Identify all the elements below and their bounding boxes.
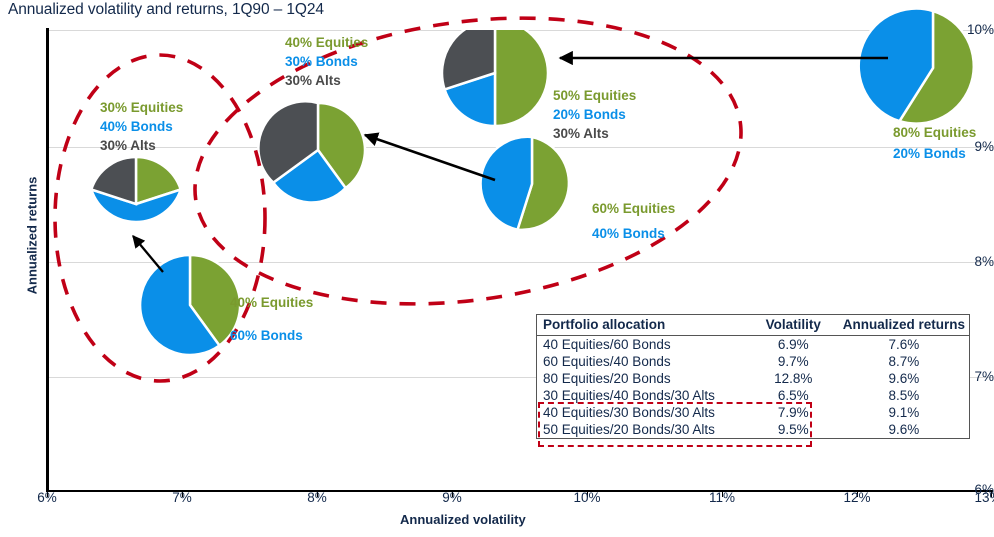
label-50-20-30-alts: 30% Alts (553, 124, 609, 143)
x-tick-8: 8% (287, 490, 347, 505)
cell-return: 9.1% (837, 404, 969, 421)
x-tick-6: 6% (17, 490, 77, 505)
cell-allocation: 40 Equities/60 Bonds (537, 336, 748, 354)
y-tick-10: 10% (948, 22, 994, 37)
pie-40-equities-30-bonds-30-alts (258, 101, 365, 202)
label-40-30-30-equities: 40% Equities (285, 33, 368, 52)
arrow-40-60-to-30-40-30 (133, 236, 163, 272)
label-40-30-30-bonds: 30% Bonds (285, 52, 358, 71)
table-row: 40 Equities/30 Bonds/30 Alts 7.9% 9.1% (537, 404, 969, 421)
x-tick-7: 7% (152, 490, 212, 505)
label-60-40-bonds: 40% Bonds (592, 224, 665, 243)
label-30-40-30-bonds: 40% Bonds (100, 117, 173, 136)
cell-allocation: 60 Equities/40 Bonds (537, 353, 748, 370)
highlight-ellipse-right (176, 0, 759, 337)
y-tick-8: 8% (948, 254, 994, 269)
table-row: 60 Equities/40 Bonds 9.7% 8.7% (537, 353, 969, 370)
label-60-40-equities: 60% Equities (592, 199, 675, 218)
x-tick-10: 10% (557, 490, 617, 505)
table-row: 80 Equities/20 Bonds 12.8% 9.6% (537, 370, 969, 387)
arrow-60-40-to-40-30-30 (365, 135, 495, 180)
cell-volatility: 9.5% (748, 421, 837, 438)
gridline-10pct (48, 30, 993, 31)
pie-50-equities-20-bonds-30-alts (442, 20, 548, 126)
x-tick-12: 12% (827, 490, 887, 505)
y-axis-title: Annualized returns (25, 156, 40, 316)
col-annualized-returns: Annualized returns (837, 315, 969, 336)
label-50-20-30-equities: 50% Equities (553, 86, 636, 105)
label-30-40-30-alts: 30% Alts (100, 136, 156, 155)
gridline-8pct (48, 262, 993, 263)
label-40-60-equities: 40% Equities (230, 293, 313, 312)
label-80-20-bonds: 20% Bonds (893, 144, 966, 163)
cell-allocation: 40 Equities/30 Bonds/30 Alts (537, 404, 748, 421)
cell-volatility: 6.9% (748, 336, 837, 354)
portfolio-allocation-table: Portfolio allocation Volatility Annualiz… (536, 314, 970, 439)
col-portfolio-allocation: Portfolio allocation (537, 315, 748, 336)
cell-return: 7.6% (837, 336, 969, 354)
x-axis-title: Annualized volatility (400, 512, 526, 527)
x-tick-9: 9% (422, 490, 482, 505)
cell-volatility: 9.7% (748, 353, 837, 370)
cell-return: 9.6% (837, 370, 969, 387)
table-row: 50 Equities/20 Bonds/30 Alts 9.5% 9.6% (537, 421, 969, 438)
table-row: 30 Equities/40 Bonds/30 Alts 6.5% 8.5% (537, 387, 969, 404)
cell-return: 9.6% (837, 421, 969, 438)
x-tick-13: 13% (958, 490, 994, 505)
cell-volatility: 12.8% (748, 370, 837, 387)
cell-allocation: 30 Equities/40 Bonds/30 Alts (537, 387, 748, 404)
cell-volatility: 6.5% (748, 387, 837, 404)
y-axis-line (46, 28, 49, 492)
cell-volatility: 7.9% (748, 404, 837, 421)
cell-return: 8.7% (837, 353, 969, 370)
table-row: 40 Equities/60 Bonds 6.9% 7.6% (537, 336, 969, 354)
chart-title: Annualized volatility and returns, 1Q90 … (8, 1, 324, 19)
label-40-60-bonds: 60% Bonds (230, 326, 303, 345)
label-80-20-equities: 80% Equities (893, 123, 976, 142)
pie-60-equities-40-bonds (481, 137, 569, 230)
pie-30-equities-40-bonds-30-alts (91, 157, 180, 222)
cell-allocation: 80 Equities/20 Bonds (537, 370, 748, 387)
col-volatility: Volatility (748, 315, 837, 336)
cell-allocation: 50 Equities/20 Bonds/30 Alts (537, 421, 748, 438)
label-50-20-30-bonds: 20% Bonds (553, 105, 626, 124)
pie-40-equities-60-bonds (140, 255, 240, 355)
cell-return: 8.5% (837, 387, 969, 404)
chart-canvas: Annualized volatility and returns, 1Q90 … (0, 0, 994, 537)
chart-overlay (0, 0, 994, 537)
label-40-30-30-alts: 30% Alts (285, 71, 341, 90)
table-header-row: Portfolio allocation Volatility Annualiz… (537, 315, 969, 336)
x-tick-11: 11% (692, 490, 752, 505)
gridline-9pct (48, 147, 993, 148)
label-30-40-30-equities: 30% Equities (100, 98, 183, 117)
